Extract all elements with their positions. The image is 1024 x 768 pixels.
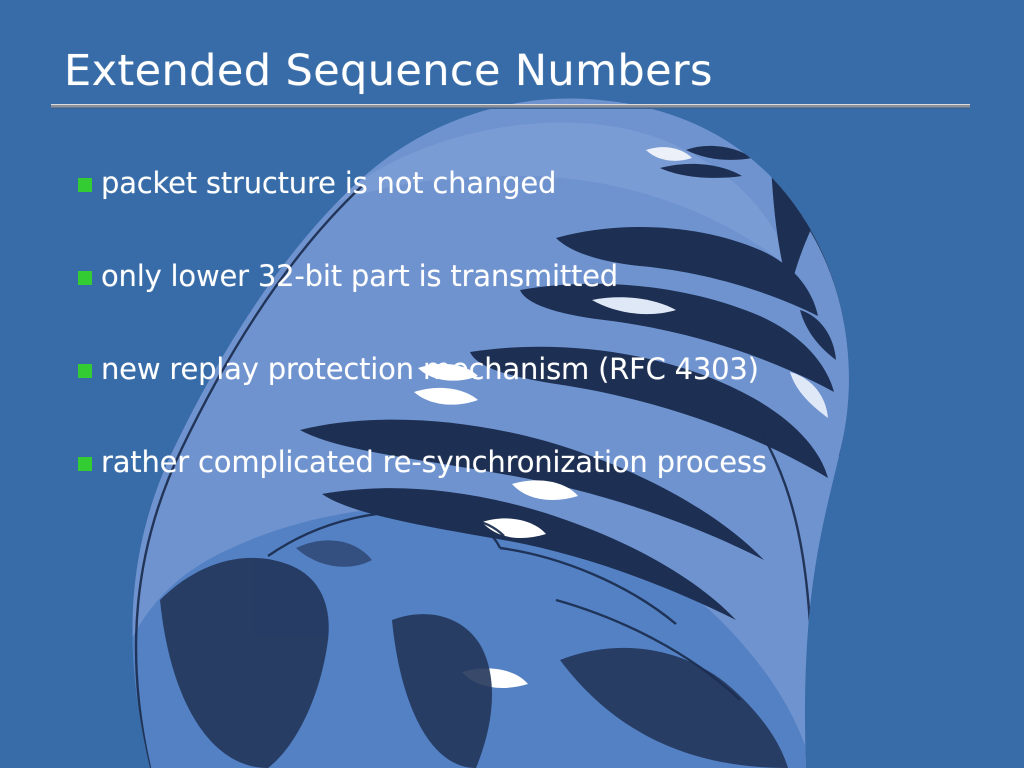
bullet-list: packet structure is not changed only low… — [0, 0, 1024, 768]
list-item: rather complicated re-synchronization pr… — [78, 448, 767, 477]
list-item-label: only lower 32-bit part is transmitted — [101, 262, 618, 291]
list-item: packet structure is not changed — [78, 169, 556, 198]
presentation-slide: Extended Sequence Numbers packet structu… — [0, 0, 1024, 768]
green-square-bullet-icon — [78, 178, 92, 192]
green-square-bullet-icon — [78, 457, 92, 471]
list-item-label: rather complicated re-synchronization pr… — [101, 448, 767, 477]
list-item-label: new replay protection mechanism (RFC 430… — [101, 355, 759, 384]
green-square-bullet-icon — [78, 364, 92, 378]
green-square-bullet-icon — [78, 271, 92, 285]
list-item: new replay protection mechanism (RFC 430… — [78, 355, 759, 384]
list-item: only lower 32-bit part is transmitted — [78, 262, 618, 291]
list-item-label: packet structure is not changed — [101, 169, 556, 198]
